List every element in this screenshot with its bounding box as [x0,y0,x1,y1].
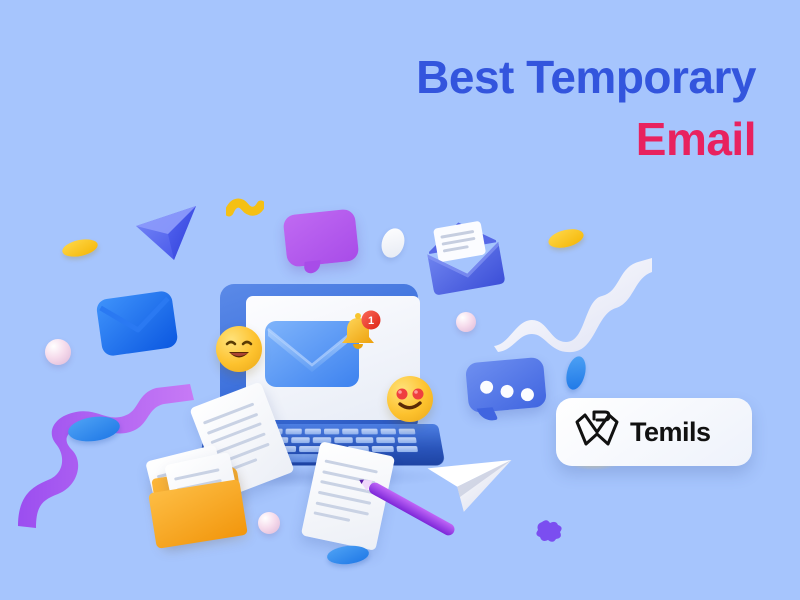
bell-icon: 1 [338,310,382,354]
white-pill-icon [378,225,408,260]
blue-chat-bubble-dots-icon [465,357,547,414]
svg-text:1: 1 [368,315,374,327]
pink-sphere-icon [45,339,71,365]
headline-line-2: Email [416,116,756,162]
purple-splat-icon [534,518,564,544]
white-ribbon-icon [492,250,656,354]
closed-envelope-icon [94,287,180,359]
white-paper-plane-icon [420,444,514,519]
bubble-dot [520,387,534,401]
heart-eyes-emoji [387,376,433,422]
headline-line-1: Best Temporary [416,54,756,100]
bubble-dot [479,380,493,394]
blue-disc-icon [563,354,589,391]
yellow-disc-icon [61,236,100,259]
yellow-disc-icon [546,226,585,251]
smiling-face-emoji [216,326,262,372]
headline: Best Temporary Email [416,54,756,162]
blue-paper-plane-icon [134,204,218,266]
blue-disc-icon [326,544,370,566]
brand-name: Temils [630,417,711,448]
yellow-squiggle-icon [226,196,264,222]
bubble-dot [499,384,513,398]
purple-chat-bubble-icon [282,208,359,267]
poster-canvas: 1 [0,0,800,600]
envelope-m-monogram-icon [574,410,620,454]
brand-logo-badge[interactable]: Temils [556,398,752,466]
pink-sphere-icon [456,312,476,332]
pink-sphere-icon [258,512,280,534]
